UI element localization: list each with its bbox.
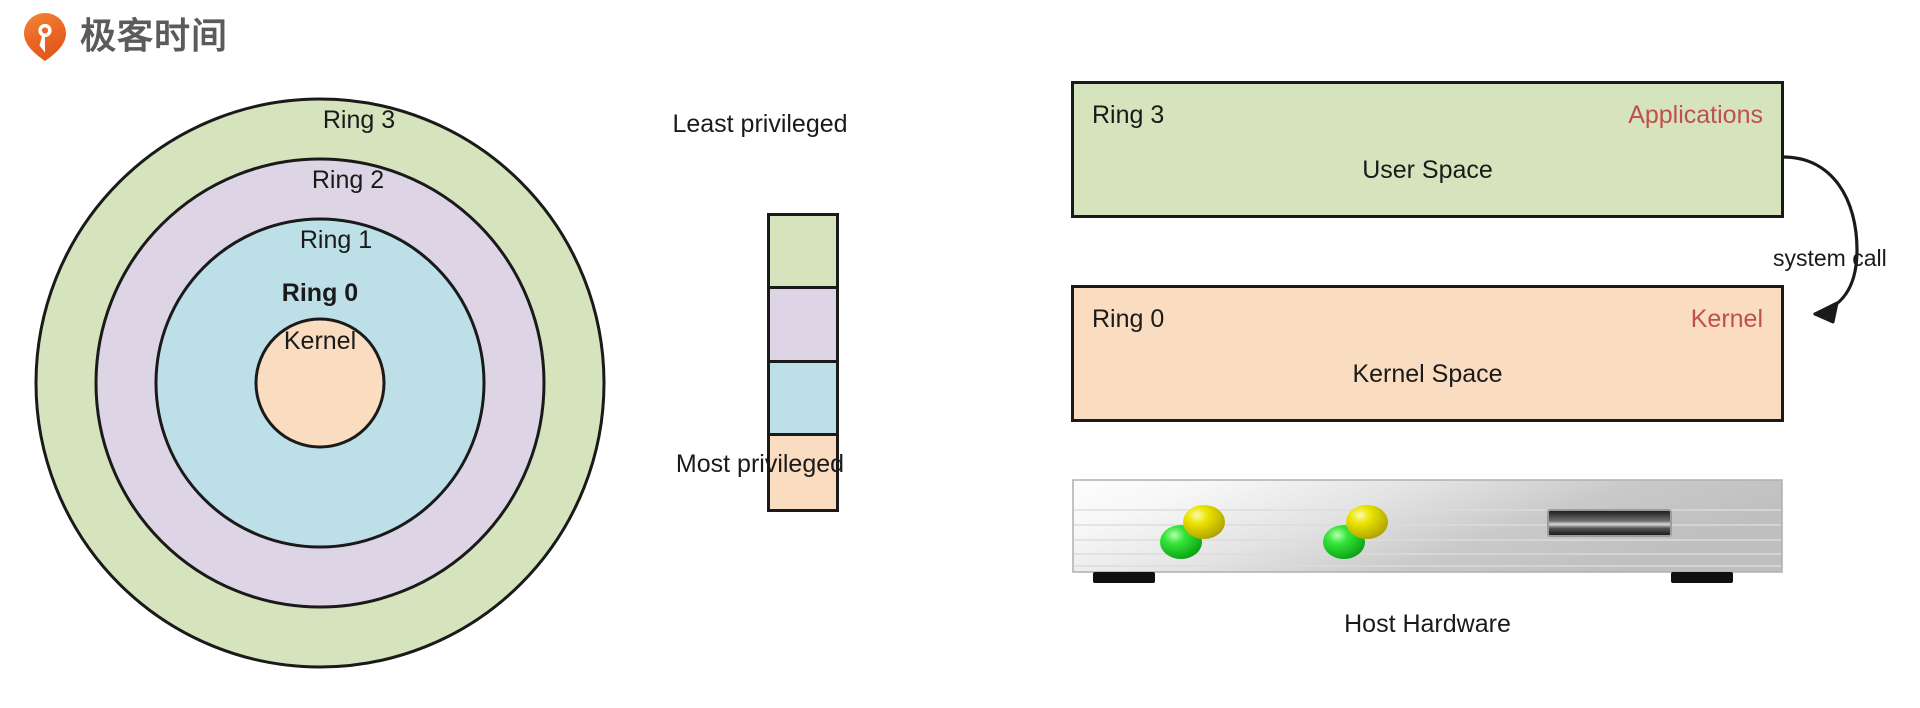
drive-slot [1548,510,1671,536]
kernel-space-role-label: Kernel [1691,305,1763,334]
brand-logo: 极客时间 [22,12,228,62]
ring-1-label: Ring 1 [300,226,372,254]
host-hardware-illustration: Host Hardware [1071,478,1784,608]
legend-segment-ring-3 [770,216,836,289]
user-space-box: Ring 3 Applications User Space [1071,81,1784,218]
host-hardware-label: Host Hardware [1071,610,1784,639]
user-space-role-label: Applications [1628,101,1763,130]
system-call-arrow-icon [1771,60,1901,385]
led-yellow-2 [1346,505,1388,539]
privilege-legend: Least privileged Most privileged [580,100,940,530]
protection-rings-diagram: Ring 3 Ring 2 Ring 1 Ring 0 Kernel [33,96,607,670]
ring-0-kernel-label: Kernel [284,327,356,355]
legend-segment-ring-1 [770,363,836,436]
diagram-canvas: 极客时间 Ring 3 Ring 2 Ring 1 Ring 0 Kernel … [0,0,1920,708]
user-space-ring-label: Ring 3 [1092,101,1164,130]
legend-bottom-caption: Most privileged [580,450,940,479]
brand-name: 极客时间 [80,19,228,55]
chassis-foot-right [1671,572,1733,583]
led-yellow-1 [1183,505,1225,539]
ring-0-label: Ring 0 [282,279,358,307]
kernel-space-title: Kernel Space [1074,360,1781,389]
ring-3-label: Ring 3 [323,106,395,134]
space-layers-panel: Ring 3 Applications User Space Ring 0 Ke… [1071,60,1891,680]
legend-top-caption: Least privileged [580,110,940,139]
kernel-space-box: Ring 0 Kernel Kernel Space [1071,285,1784,422]
ring-2-label: Ring 2 [312,166,384,194]
geekbang-pin-icon [22,12,68,62]
legend-segment-ring-2 [770,289,836,362]
system-call-label: system call [1773,245,1887,272]
kernel-space-ring-label: Ring 0 [1092,305,1164,334]
user-space-title: User Space [1074,156,1781,185]
chassis-foot-left [1093,572,1155,583]
